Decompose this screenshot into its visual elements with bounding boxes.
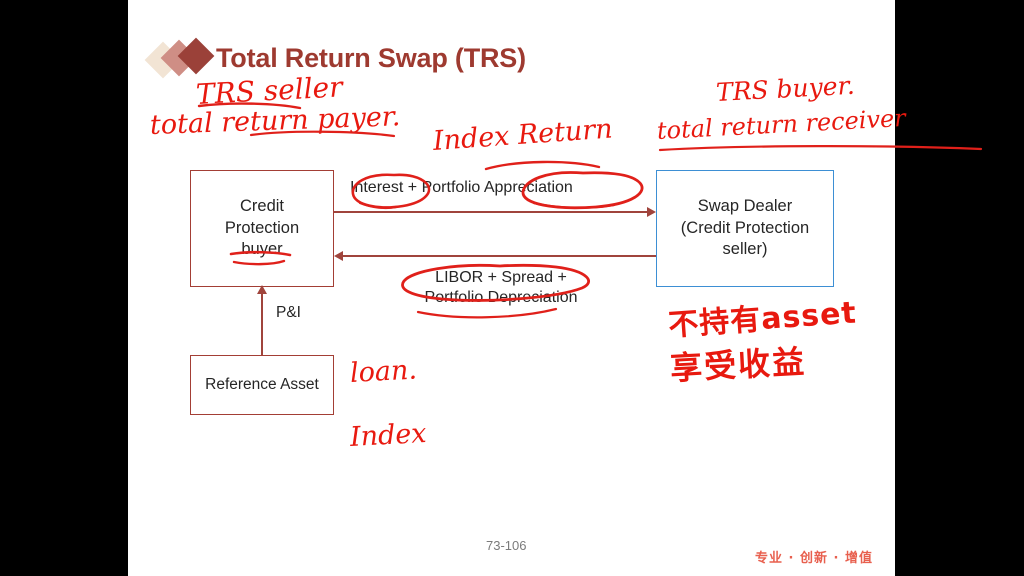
slide-canvas: Total Return Swap (TRS) Credit Protectio… xyxy=(128,0,895,576)
node-reference-asset-label: Reference Asset xyxy=(205,375,319,395)
annotation-index: Index xyxy=(349,418,427,453)
page-title: Total Return Swap (TRS) xyxy=(216,43,526,74)
annotation-total-return-receiver: total return receiver xyxy=(656,104,906,145)
arrow-bottom-line xyxy=(343,255,656,257)
brand-slogan: 专业 · 创新 · 增值 xyxy=(755,547,873,566)
annotation-chinese-no-asset: 不持有asset xyxy=(667,287,858,344)
annotation-index-return: Index Return xyxy=(432,113,614,156)
screen: Total Return Swap (TRS) Credit Protectio… xyxy=(0,0,1024,576)
letterbox-bar-left xyxy=(0,0,128,576)
arrow-label-top: Interest + Portfolio Appreciation xyxy=(350,178,573,198)
annotation-trs-buyer: TRS buyer. xyxy=(715,71,855,107)
arrow-top-head-icon xyxy=(647,207,656,217)
annotation-loan: loan. xyxy=(349,355,417,389)
diamond-bullet-icon xyxy=(150,40,222,76)
arrow-pi-head-icon xyxy=(257,285,267,294)
arrow-bottom-head-icon xyxy=(334,251,343,261)
node-reference-asset: Reference Asset xyxy=(190,355,334,415)
arrow-top-line xyxy=(334,211,648,213)
annotation-total-return-payer: total return payer. xyxy=(149,101,400,141)
arrow-pi-line xyxy=(261,292,263,355)
node-swap-dealer-label: Swap Dealer (Credit Protection seller) xyxy=(681,196,809,261)
node-credit-protection-buyer-label: Credit Protection buyer xyxy=(225,196,299,261)
node-swap-dealer: Swap Dealer (Credit Protection seller) xyxy=(656,170,834,287)
annotation-chinese-enjoy-return: 享受收益 xyxy=(669,336,807,389)
arrow-label-pi: P&I xyxy=(276,304,301,323)
node-credit-protection-buyer: Credit Protection buyer xyxy=(190,170,334,287)
page-number: 73-106 xyxy=(486,538,526,553)
letterbox-bar-right xyxy=(895,0,1024,576)
ink-underline-index-return xyxy=(483,158,603,174)
arrow-label-bottom: LIBOR + Spread + Portfolio Depreciation xyxy=(396,268,606,307)
